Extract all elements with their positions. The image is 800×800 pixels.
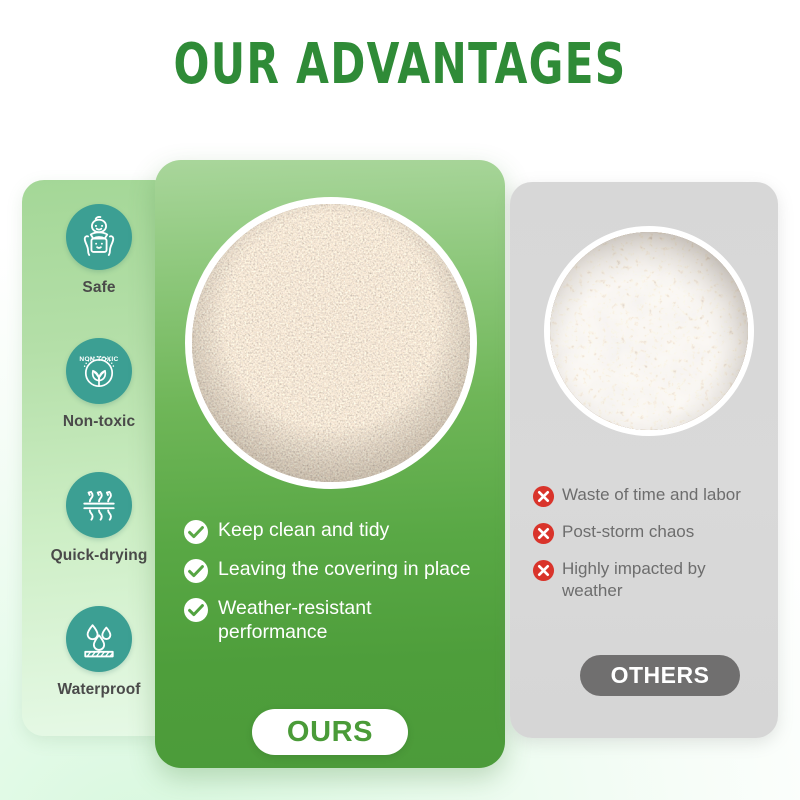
feature-label: Quick-drying	[22, 547, 176, 565]
feature-item-safe[interactable]: Safe	[22, 204, 176, 297]
infographic-root: OUR ADVANTAGES Sa	[0, 0, 800, 800]
feature-label: Non-toxic	[22, 413, 176, 431]
feature-item-quick-drying[interactable]: Quick-drying	[22, 472, 176, 565]
others-card: Waste of time and labor Post-storm chaos…	[510, 182, 778, 738]
cross-circle-icon	[532, 559, 555, 582]
benefit-row: Leaving the covering in place	[183, 557, 489, 584]
feature-label: Waterproof	[22, 681, 176, 699]
ours-benefit-list: Keep clean and tidy Leaving the covering…	[183, 518, 489, 656]
drawback-text: Highly impacted by weather	[562, 558, 766, 602]
non-toxic-leaf-icon: NON TOXIC	[66, 338, 132, 404]
benefit-text: Keep clean and tidy	[218, 518, 389, 542]
feature-rail: Safe NON TOXIC Non-toxic	[22, 180, 176, 736]
svg-text:NON TOXIC: NON TOXIC	[79, 356, 118, 363]
drawback-text: Post-storm chaos	[562, 521, 694, 543]
ours-product-photo	[185, 197, 477, 489]
quick-drying-airflow-icon	[66, 472, 132, 538]
drawback-row: Post-storm chaos	[532, 521, 780, 545]
ours-card: Keep clean and tidy Leaving the covering…	[155, 160, 505, 768]
drawback-row: Waste of time and labor	[532, 484, 780, 508]
feature-item-waterproof[interactable]: Waterproof	[22, 606, 176, 699]
others-badge[interactable]: OTHERS	[580, 655, 740, 696]
benefit-row: Keep clean and tidy	[183, 518, 489, 545]
benefit-text: Weather-resistant performance	[218, 596, 480, 644]
cross-circle-icon	[532, 485, 555, 508]
others-drawback-list: Waste of time and labor Post-storm chaos…	[532, 484, 780, 615]
check-circle-icon	[183, 519, 209, 545]
coarse-stone-texture	[546, 228, 752, 434]
drawback-text: Waste of time and labor	[562, 484, 741, 506]
check-circle-icon	[183, 558, 209, 584]
benefit-text: Leaving the covering in place	[218, 557, 471, 581]
fine-gravel-texture	[188, 200, 474, 486]
check-circle-icon	[183, 597, 209, 623]
cross-circle-icon	[532, 522, 555, 545]
others-product-photo	[544, 226, 754, 436]
benefit-row: Weather-resistant performance	[183, 596, 489, 644]
drawback-row: Highly impacted by weather	[532, 558, 780, 602]
waterproof-droplets-icon	[66, 606, 132, 672]
feature-label: Safe	[22, 279, 176, 297]
page-title: OUR ADVANTAGES	[64, 34, 736, 96]
feature-item-non-toxic[interactable]: NON TOXIC Non-toxic	[22, 338, 176, 431]
ours-badge[interactable]: OURS	[252, 709, 408, 755]
baby-protected-icon	[66, 204, 132, 270]
